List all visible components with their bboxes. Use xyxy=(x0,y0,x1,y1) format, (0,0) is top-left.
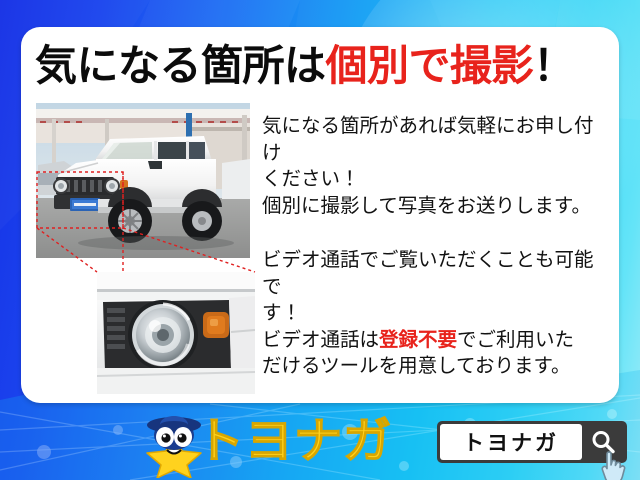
content-card: 気になる箇所は個別で撮影！ xyxy=(21,27,619,403)
headlight-detail-photo xyxy=(97,272,255,394)
footer-brand-bar: トヨナガ トヨナガ xyxy=(0,404,640,480)
advertisement-slide: 気になる箇所は個別で撮影！ xyxy=(0,0,640,480)
headline-highlight: 個別で撮影 xyxy=(326,45,534,87)
headlight-detail-image xyxy=(97,272,255,394)
search-input[interactable]: トヨナガ xyxy=(440,424,582,460)
p1-line-1: 気になる箇所があれば気軽にお申し付け xyxy=(262,115,594,164)
pointing-hand-cursor-icon xyxy=(596,448,636,480)
p2-line-4: だけるツールを用意しております。 xyxy=(262,355,571,377)
brand-wordmark: トヨナガ xyxy=(196,416,392,468)
no-registration-emphasis: 登録不要 xyxy=(379,329,457,351)
headline-part-1: 気になる箇所は xyxy=(35,45,326,87)
vehicle-photo-image xyxy=(36,103,250,258)
p2-line-2: す！ xyxy=(262,302,301,324)
p1-line-2: ください！ xyxy=(262,168,360,190)
headline-exclamation: ！ xyxy=(533,45,575,87)
p2-line-3-suffix: でご利用いた xyxy=(457,329,574,351)
page-title: 気になる箇所は個別で撮影！ xyxy=(35,35,610,97)
p2-line-3-prefix: ビデオ通話は xyxy=(262,329,379,351)
vehicle-photo xyxy=(36,103,250,258)
p1-line-3: 個別に撮影して写真をお送りします。 xyxy=(262,195,591,217)
paragraph-1: 気になる箇所があれば気軽にお申し付け ください！ 個別に撮影して写真をお送りしま… xyxy=(262,113,602,219)
p2-line-1: ビデオ通話でご覧いただくことも可能で xyxy=(262,249,594,298)
body-copy: 気になる箇所があれば気軽にお申し付け ください！ 個別に撮影して写真をお送りしま… xyxy=(262,113,602,380)
paragraph-2: ビデオ通話でご覧いただくことも可能で す！ ビデオ通話は登録不要でご利用いた だ… xyxy=(262,247,602,380)
